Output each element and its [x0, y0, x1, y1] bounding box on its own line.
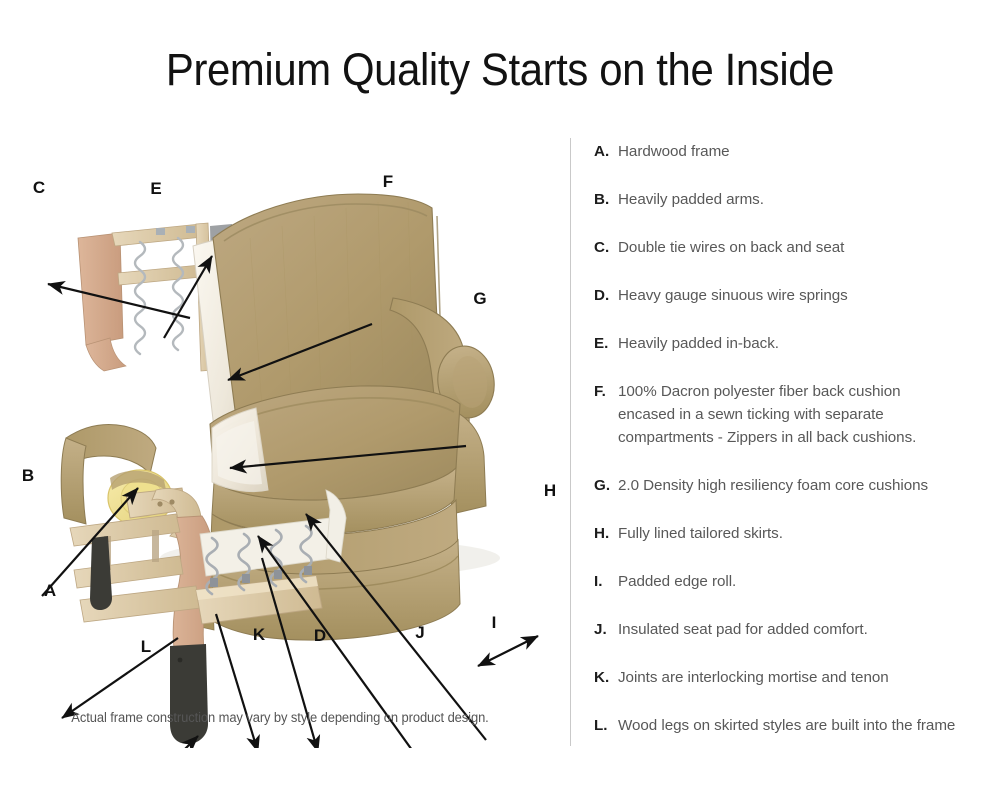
- callout-letter-G: G: [473, 289, 486, 308]
- vertical-divider: [570, 138, 571, 746]
- legend-item-k: K.Joints are interlocking mortise and te…: [594, 666, 990, 689]
- callout-letter-D: D: [314, 626, 326, 645]
- legend-item-f: F.100% Dacron polyester fiber back cushi…: [594, 380, 990, 449]
- callout-letter-E: E: [150, 179, 161, 198]
- callout-letter-B: B: [22, 466, 34, 485]
- page-title: Premium Quality Starts on the Inside: [35, 44, 965, 96]
- feature-legend-list: A.Hardwood frame B.Heavily padded arms. …: [594, 140, 990, 737]
- legend-item-e: E.Heavily padded in-back.: [594, 332, 990, 355]
- legend-letter-c: C.: [594, 236, 618, 259]
- legend-letter-k: K.: [594, 666, 618, 689]
- callout-letter-A: A: [44, 581, 56, 600]
- legend-item-h: H.Fully lined tailored skirts.: [594, 522, 990, 545]
- callout-letter-H: H: [544, 481, 556, 500]
- legend-letter-g: G.: [594, 474, 618, 497]
- arrow-A: [62, 638, 178, 718]
- callout-letter-L: L: [141, 637, 151, 656]
- legend-letter-d: D.: [594, 284, 618, 307]
- legend-item-j: J.Insulated seat pad for added comfort.: [594, 618, 990, 641]
- legend-item-l: L.Wood legs on skirted styles are built …: [594, 714, 990, 737]
- legend-letter-b: B.: [594, 188, 618, 211]
- legend-text-c: Double tie wires on back and seat: [618, 236, 844, 259]
- legend-letter-f: F.: [594, 380, 618, 403]
- chair-construction-diagram: C E F G B H A L K D J I: [0, 138, 560, 748]
- legend-text-h: Fully lined tailored skirts.: [618, 522, 783, 545]
- legend-letter-j: J.: [594, 618, 618, 641]
- chair-illustration: [61, 194, 500, 744]
- legend-item-a: A.Hardwood frame: [594, 140, 990, 163]
- legend-letter-l: L.: [594, 714, 618, 737]
- legend-letter-h: H.: [594, 522, 618, 545]
- arrow-H: [478, 636, 538, 666]
- legend-text-f: 100% Dacron polyester fiber back cushion…: [618, 380, 948, 449]
- legend-item-c: C.Double tie wires on back and seat: [594, 236, 990, 259]
- callout-letter-K: K: [253, 625, 266, 644]
- legend-text-k: Joints are interlocking mortise and teno…: [618, 666, 889, 689]
- legend-letter-a: A.: [594, 140, 618, 163]
- infographic-page: Premium Quality Starts on the Inside: [0, 0, 1000, 800]
- legend-text-e: Heavily padded in-back.: [618, 332, 779, 355]
- legend-item-g: G.2.0 Density high resiliency foam core …: [594, 474, 990, 497]
- legend-letter-i: I.: [594, 570, 618, 593]
- legend-item-b: B.Heavily padded arms.: [594, 188, 990, 211]
- legend-item-d: D.Heavy gauge sinuous wire springs: [594, 284, 990, 307]
- diagram-caption: Actual frame construction may vary by st…: [11, 710, 549, 725]
- callout-letter-J: J: [415, 623, 424, 642]
- legend-text-d: Heavy gauge sinuous wire springs: [618, 284, 848, 307]
- callout-letter-C: C: [33, 178, 45, 197]
- legend-text-j: Insulated seat pad for added comfort.: [618, 618, 868, 641]
- callout-letter-I: I: [492, 613, 497, 632]
- legend-text-l: Wood legs on skirted styles are built in…: [618, 714, 955, 737]
- legend-text-g: 2.0 Density high resiliency foam core cu…: [618, 474, 928, 497]
- legend-text-b: Heavily padded arms.: [618, 188, 764, 211]
- legend-text-i: Padded edge roll.: [618, 570, 736, 593]
- callout-letter-F: F: [383, 172, 393, 191]
- legend-letter-e: E.: [594, 332, 618, 355]
- legend-text-a: Hardwood frame: [618, 140, 730, 163]
- legend-item-i: I.Padded edge roll.: [594, 570, 990, 593]
